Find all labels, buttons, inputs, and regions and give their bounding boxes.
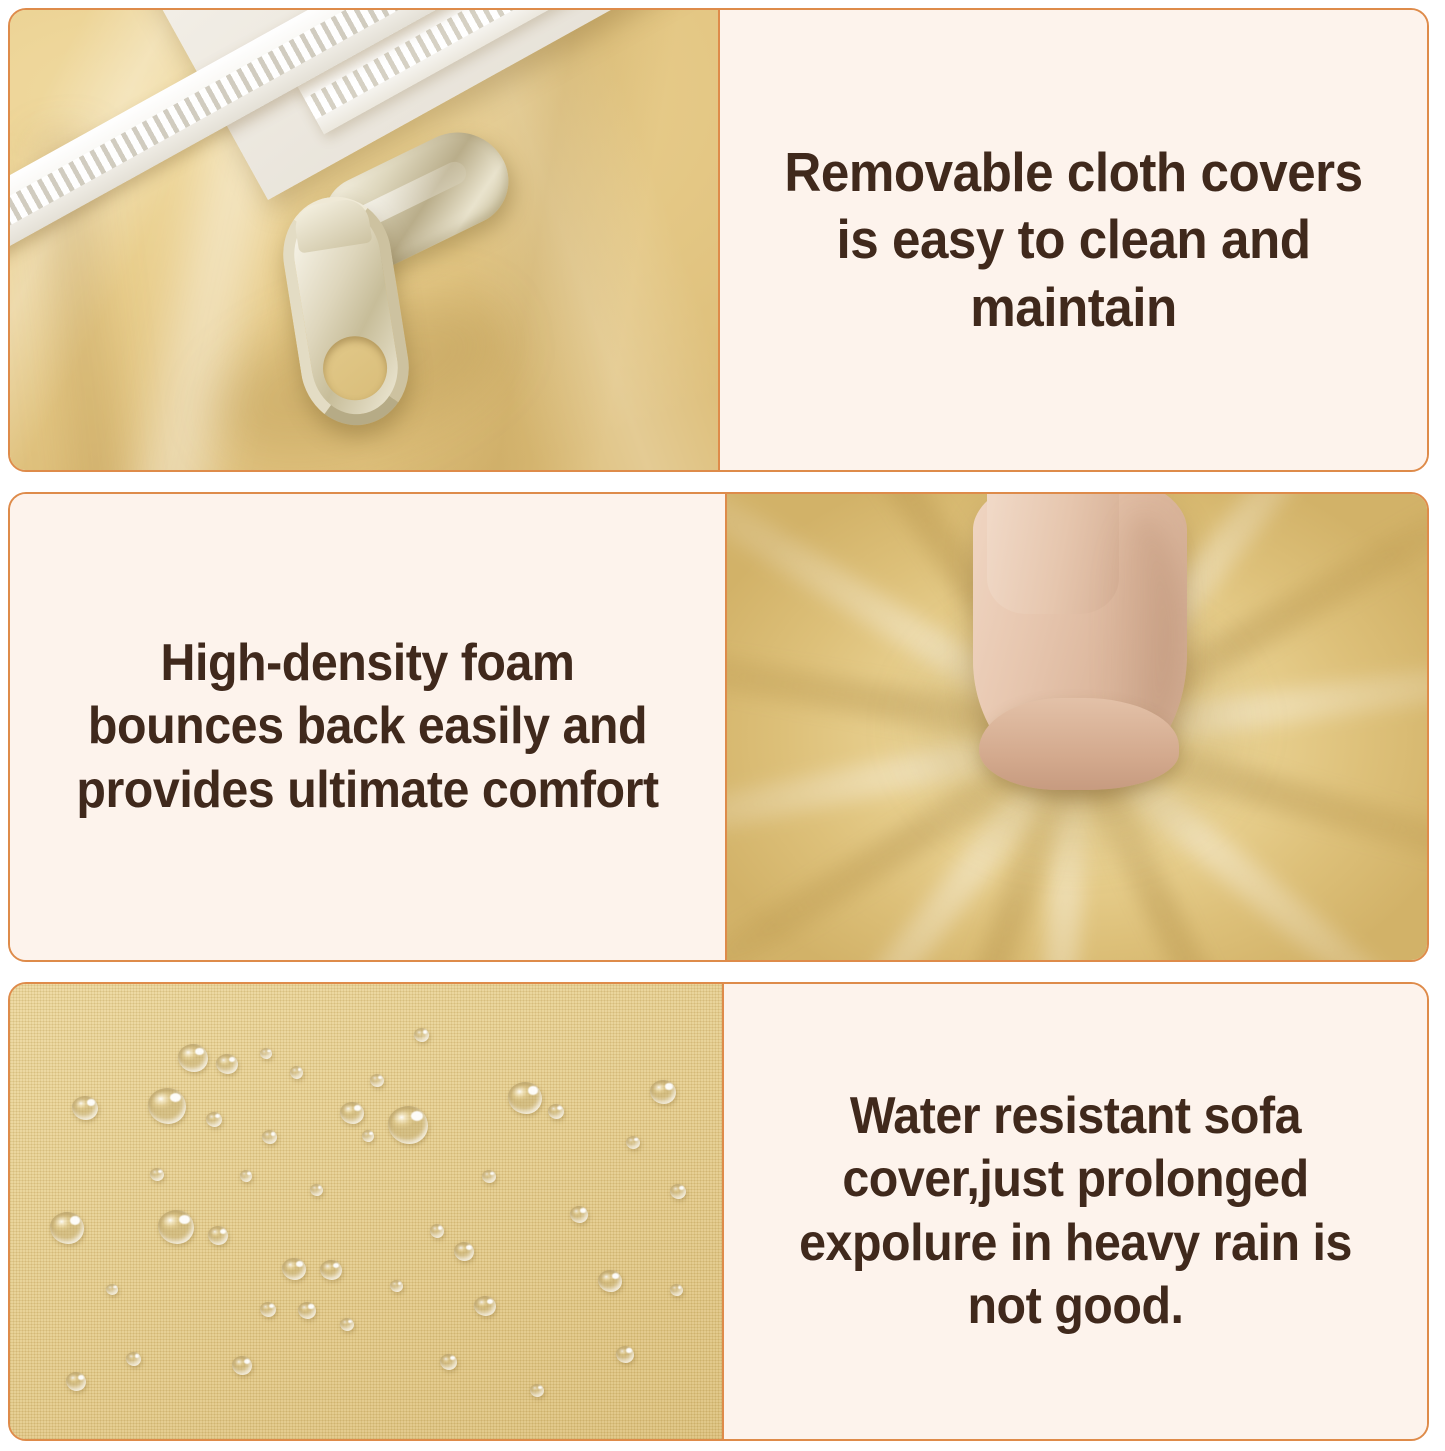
water-droplet	[158, 1210, 194, 1244]
water-droplet	[670, 1184, 686, 1199]
water-droplet	[430, 1224, 444, 1238]
water-droplet	[232, 1356, 252, 1375]
water-droplet	[148, 1088, 186, 1124]
water-droplet	[208, 1226, 228, 1245]
woven-fabric-background	[10, 984, 722, 1439]
water-droplet	[482, 1170, 496, 1183]
water-droplet	[320, 1260, 342, 1280]
foot-pressing-foam-photo	[725, 494, 1427, 960]
water-droplet	[150, 1168, 164, 1181]
caption-area-high-density-foam: High-density foam bounces back easily an…	[10, 494, 725, 960]
feature-caption-water-resistant: Water resistant sofa cover,just prolonge…	[786, 1085, 1365, 1339]
foot-heel	[979, 698, 1179, 790]
water-droplet	[106, 1284, 118, 1295]
water-droplet	[390, 1280, 403, 1292]
water-droplet	[282, 1258, 306, 1280]
water-droplet	[616, 1346, 634, 1363]
product-feature-infographic: Removable cloth covers is easy to clean …	[0, 0, 1445, 1451]
water-droplet	[260, 1302, 276, 1317]
water-droplet	[530, 1384, 544, 1397]
feature-caption-removable-cover: Removable cloth covers is easy to clean …	[782, 139, 1365, 340]
foot-ankle	[987, 494, 1119, 614]
zipper-pull-hole	[318, 332, 391, 405]
bare-foot	[973, 494, 1187, 784]
water-droplet	[262, 1130, 277, 1144]
water-droplets-fabric-photo	[10, 984, 724, 1439]
water-droplet	[626, 1136, 640, 1149]
caption-area-water-resistant: Water resistant sofa cover,just prolonge…	[724, 984, 1427, 1439]
water-droplet	[370, 1074, 384, 1087]
water-droplet	[126, 1352, 141, 1366]
water-droplet	[290, 1066, 303, 1079]
water-droplet	[298, 1302, 316, 1319]
water-droplet	[260, 1048, 272, 1059]
water-droplet	[340, 1318, 354, 1331]
caption-area-removable-cover: Removable cloth covers is easy to clean …	[720, 10, 1427, 470]
water-droplet	[650, 1080, 676, 1104]
water-droplet	[508, 1082, 542, 1114]
water-droplet	[454, 1242, 474, 1261]
water-droplet	[72, 1096, 98, 1120]
water-droplet	[598, 1270, 622, 1292]
water-droplet	[548, 1104, 564, 1119]
water-droplet	[240, 1170, 252, 1182]
water-droplet	[414, 1028, 429, 1042]
water-droplet	[178, 1044, 208, 1072]
zipper-closeup-photo	[10, 10, 720, 470]
water-droplet	[216, 1054, 238, 1074]
water-droplet	[50, 1212, 84, 1244]
water-droplet	[362, 1130, 374, 1142]
water-droplet	[388, 1106, 428, 1144]
water-droplet	[340, 1102, 364, 1124]
feature-panel-removable-cover: Removable cloth covers is easy to clean …	[8, 8, 1429, 472]
water-droplet	[474, 1296, 496, 1316]
water-droplet	[66, 1372, 86, 1391]
yellow-fabric-background	[10, 10, 718, 470]
water-droplet	[570, 1206, 588, 1223]
foam-cushion-background	[727, 494, 1427, 960]
water-droplet	[310, 1184, 323, 1196]
feature-caption-high-density-foam: High-density foam bounces back easily an…	[72, 632, 663, 822]
water-droplet	[670, 1284, 683, 1296]
feature-panel-high-density-foam: High-density foam bounces back easily an…	[8, 492, 1429, 962]
water-droplet	[206, 1112, 222, 1127]
feature-panel-water-resistant: Water resistant sofa cover,just prolonge…	[8, 982, 1429, 1441]
water-droplet	[440, 1354, 457, 1370]
